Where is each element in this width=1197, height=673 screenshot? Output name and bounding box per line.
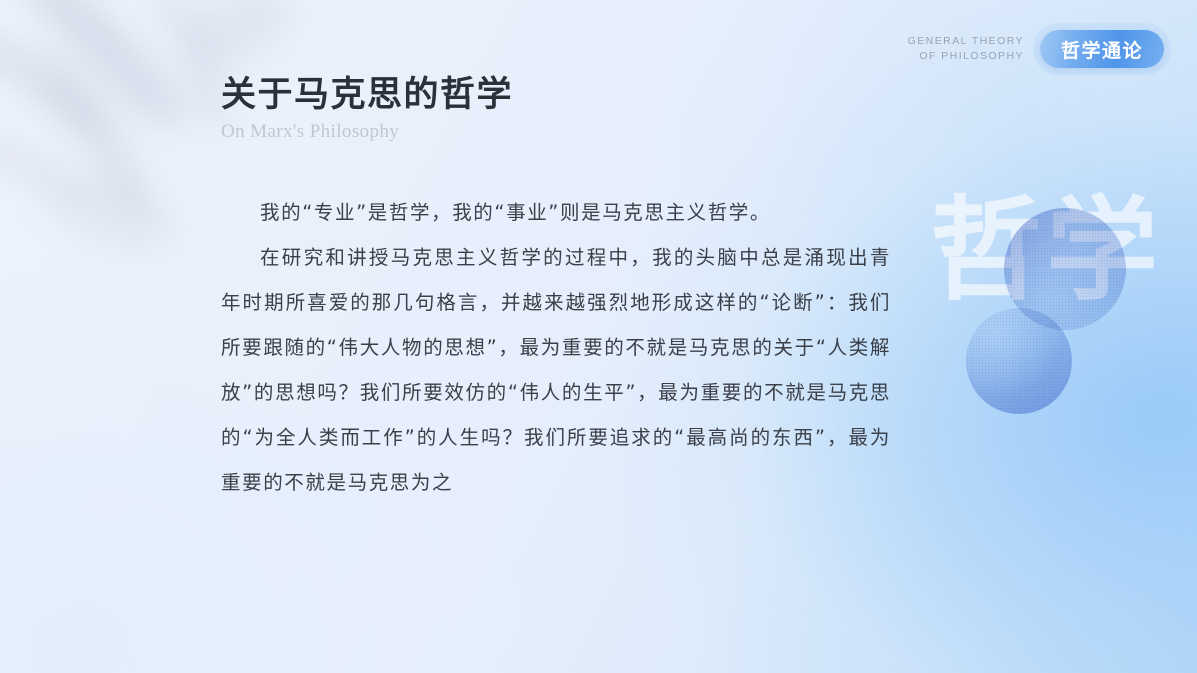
gradient-sphere-top [1004, 208, 1126, 330]
body-copy: 我的“专业”是哲学，我的“事业”则是马克思主义哲学。 在研究和讲授马克思主义哲学… [221, 190, 891, 505]
brand-header: GENERAL THEORY OF PHILOSOPHY 哲学通论 [908, 30, 1164, 68]
course-badge-label: 哲学通论 [1061, 36, 1143, 63]
philosophy-watermark: 哲学 [930, 196, 1162, 308]
slide-canvas: 哲学 GENERAL THEORY OF PHILOSOPHY 哲学通论 关于马… [0, 0, 1197, 673]
page-title: 关于马克思的哲学 [221, 74, 513, 115]
page-subtitle: On Marx's Philosophy [221, 121, 513, 144]
brand-english-text: GENERAL THEORY OF PHILOSOPHY [908, 34, 1024, 64]
brand-english-line1: GENERAL THEORY [908, 34, 1024, 49]
grain-texture [966, 308, 1072, 414]
course-badge[interactable]: 哲学通论 [1040, 30, 1164, 68]
body-paragraph: 在研究和讲授马克思主义哲学的过程中，我的头脑中总是涌现出青年时期所喜爱的那几句格… [221, 235, 891, 505]
grain-texture [1004, 208, 1126, 330]
gradient-sphere-bottom [966, 308, 1072, 414]
body-paragraph: 我的“专业”是哲学，我的“事业”则是马克思主义哲学。 [221, 190, 891, 235]
brand-english-line2: OF PHILOSOPHY [908, 49, 1024, 64]
title-block: 关于马克思的哲学 On Marx's Philosophy [221, 74, 513, 144]
